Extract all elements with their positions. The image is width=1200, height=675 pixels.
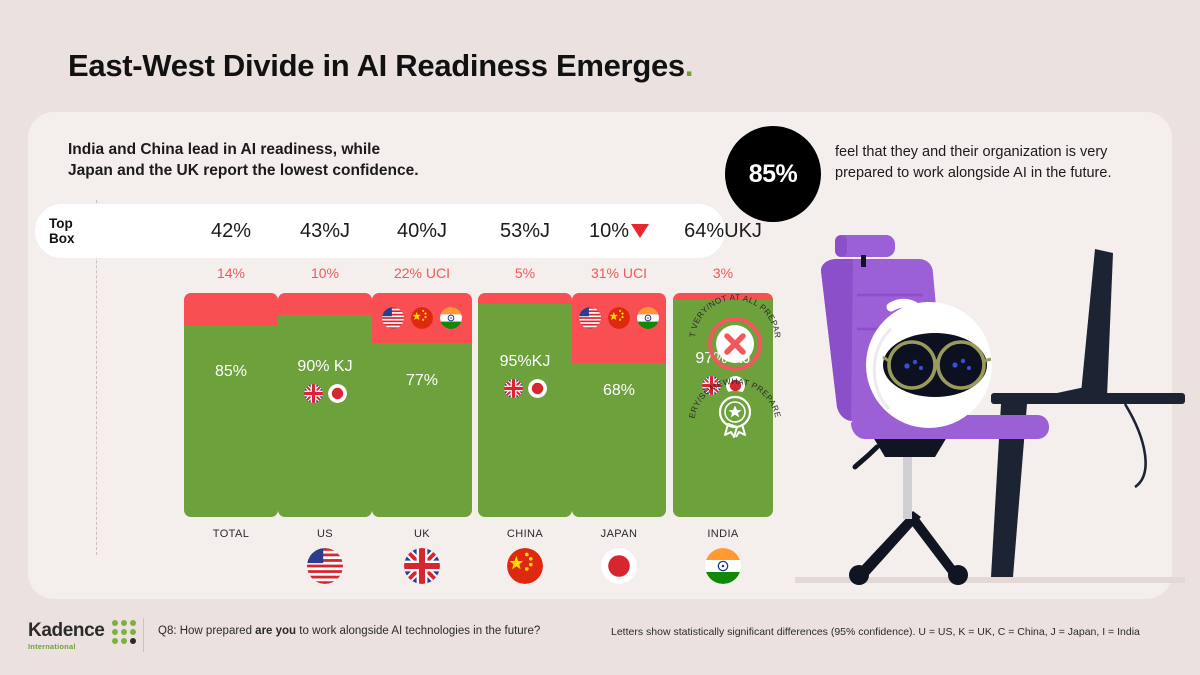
category-flag-japan (572, 548, 666, 584)
decline-arrow-icon (631, 224, 649, 238)
green-segment-label-japan: 68% (572, 382, 666, 400)
uk-flag-icon (304, 384, 323, 403)
bar-segment-not-prepared-us (278, 293, 372, 315)
india-flag-icon (637, 307, 659, 329)
logo-subtitle: International (28, 642, 104, 651)
bar-uk[interactable]: 77% (372, 293, 472, 517)
page-title-accent-dot: . (685, 48, 693, 83)
uk-flag-icon (504, 379, 523, 398)
bar-segment-prepared-japan: 68% (572, 363, 666, 517)
top-box-value-uk: 40%J (372, 204, 472, 258)
logo-wordmark: Kadence (28, 620, 104, 642)
top-box-label-line-1: Top (49, 216, 113, 231)
page-title: East-West Divide in AI Readiness Emerges… (68, 48, 693, 84)
legend-prepared: VERY/SOMEWHAT PREPARED (681, 360, 789, 464)
footer-question-suffix: to work alongside AI technologies in the… (296, 625, 540, 637)
green-award-badge-icon: VERY/SOMEWHAT PREPARED (681, 360, 789, 464)
top-box-value-china: 53%J (475, 204, 575, 258)
green-segment-label-us: 90% KJ (278, 358, 372, 376)
us-flag-icon (579, 307, 601, 329)
monitor-cable (1125, 404, 1146, 487)
red-significance-flags-japan (572, 307, 666, 329)
category-label-india: INDIA (673, 528, 773, 544)
bar-segment-not-prepared-china (478, 293, 572, 304)
top-box-label: Top Box (49, 216, 113, 246)
bar-china[interactable]: 95%KJ (478, 293, 572, 517)
top-box-value-japan: 10% (569, 204, 669, 258)
bar-segment-prepared-us: 90% KJ (278, 315, 372, 517)
category-flag-uk (372, 548, 472, 584)
robot-head (866, 302, 992, 428)
stat-value: 85% (749, 160, 798, 189)
robot-at-desk-illustration (795, 225, 1185, 615)
category-label-total: TOTAL (184, 528, 278, 544)
bar-us[interactable]: 90% KJ (278, 293, 372, 517)
bar-segment-prepared-china: 95%KJ (478, 304, 572, 517)
category-flag-us (278, 548, 372, 584)
category-flag-india (673, 548, 773, 584)
top-box-value-total: 42% (181, 204, 281, 258)
red-segment-label-japan: 31% UCI (572, 262, 666, 284)
subtitle-line-1: India and China lead in AI readiness, wh… (68, 140, 419, 161)
red-segment-label-india: 3% (673, 262, 773, 284)
footer-question-emphasis: are you (255, 625, 296, 637)
category-label-uk: UK (372, 528, 472, 544)
india-flag-icon (440, 307, 462, 329)
page-title-text: East-West Divide in AI Readiness Emerges (68, 48, 685, 83)
kadence-logo: Kadence International (28, 620, 136, 651)
green-significance-flags-us (278, 384, 372, 403)
japan-flag-icon (528, 379, 547, 398)
footer-significance-note: Letters show statistically significant d… (611, 626, 1140, 638)
bar-segment-not-prepared-uk (372, 293, 472, 343)
bar-segment-not-prepared-japan (572, 293, 666, 363)
category-label-japan: JAPAN (572, 528, 666, 544)
subtitle-line-2: Japan and the UK report the lowest confi… (68, 161, 419, 182)
japan-flag-icon (601, 548, 637, 584)
us-flag-icon (307, 548, 343, 584)
bar-total[interactable]: 85% (184, 293, 278, 517)
stat-description: feel that they and their organization is… (835, 142, 1135, 184)
japan-flag-icon (328, 384, 347, 403)
top-box-values: 42%43%J40%J53%J10%64%UKJ (113, 204, 725, 258)
red-segment-label-us: 10% (278, 262, 372, 284)
bar-segment-prepared-total: 85% (184, 325, 278, 517)
monitor-icon (1057, 249, 1113, 397)
red-significance-flags-uk (372, 307, 472, 329)
footer-question: Q8: How prepared are you to work alongsi… (158, 625, 540, 637)
china-flag-icon (411, 307, 433, 329)
us-flag-icon (382, 307, 404, 329)
infographic-root: East-West Divide in AI Readiness Emerges… (0, 0, 1200, 675)
bar-segment-prepared-uk: 77% (372, 343, 472, 517)
top-box-row: Top Box 42%43%J40%J53%J10%64%UKJ (35, 204, 725, 258)
footer-question-prefix: Q8: How prepared (158, 625, 255, 637)
red-segment-label-total: 14% (184, 262, 278, 284)
red-segment-label-uk: 22% UCI (372, 262, 472, 284)
green-significance-flags-china (478, 379, 572, 398)
india-flag-icon (705, 548, 741, 584)
green-segment-label-total: 85% (184, 363, 278, 381)
top-box-label-line-2: Box (49, 231, 113, 246)
top-box-value-us: 43%J (275, 204, 375, 258)
green-segment-label-china: 95%KJ (478, 353, 572, 371)
logo-dot-grid (112, 620, 136, 644)
category-label-us: US (278, 528, 372, 544)
red-segment-label-china: 5% (478, 262, 572, 284)
top-box-value-india: 64%UKJ (673, 204, 773, 258)
footer-divider (143, 618, 144, 652)
china-flag-icon (608, 307, 630, 329)
bar-segment-not-prepared-total (184, 293, 278, 325)
china-flag-icon (507, 548, 543, 584)
category-flag-china (478, 548, 572, 584)
subtitle: India and China lead in AI readiness, wh… (68, 140, 419, 182)
chair-base (849, 437, 968, 585)
green-segment-label-uk: 77% (372, 372, 472, 390)
uk-flag-icon (404, 548, 440, 584)
bar-japan[interactable]: 68% (572, 293, 666, 517)
category-label-china: CHINA (478, 528, 572, 544)
stacked-bar-chart: 14%85%TOTAL10%90% KJ US 22% UCI 77%UK (90, 262, 690, 582)
